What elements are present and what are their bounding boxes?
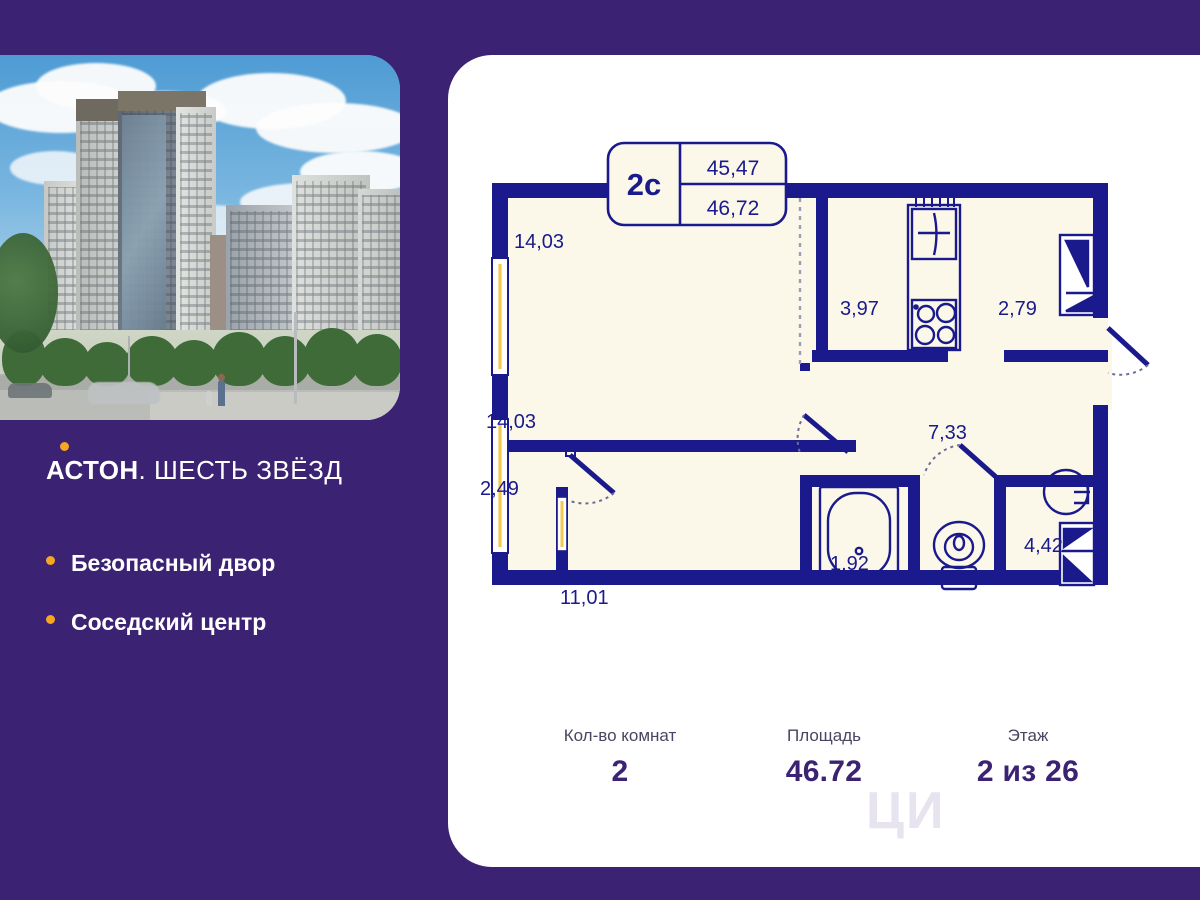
brand-logo: АСТОН . ШЕСТЬ ЗВЁЗД [46, 455, 342, 486]
street-light-pole [294, 312, 297, 404]
info-floor: Этаж 2 из 26 [968, 726, 1088, 789]
car [88, 382, 160, 404]
watermark: ЦИ [866, 781, 1066, 851]
badge-rooms-label: 2с [627, 167, 661, 202]
feature-item: Безопасный двор [46, 552, 416, 575]
window-left-upper [492, 258, 508, 375]
badge-area-with-balcony: 46,72 [707, 197, 760, 220]
feature-list: Безопасный двор Соседский центр [46, 552, 416, 670]
info-value: 46.72 [764, 755, 884, 789]
pedestrian-child [206, 391, 212, 406]
room-area-bathroom: 4,42 [1024, 535, 1063, 558]
info-value: 2 из 26 [968, 755, 1088, 789]
room-area-storage: 1,92 [830, 553, 869, 576]
floorplan-svg: 2с 45,47 46,72 [448, 55, 1200, 715]
floorplan-card: 2с 45,47 46,72 [448, 55, 1200, 867]
wardrobe-icon-lower [1060, 523, 1094, 585]
room-area-labels: 14,03 2,49 [514, 231, 564, 253]
interior-door-leaf [557, 497, 567, 551]
brand-name: АСТОН [46, 455, 139, 486]
car [8, 383, 52, 398]
floorplan-drawing[interactable]: 2с 45,47 46,72 [448, 55, 1200, 715]
badge-area-total: 45,47 [707, 157, 760, 180]
info-label: Площадь [764, 726, 884, 746]
building-render-image [0, 55, 400, 420]
info-value: 2 [560, 755, 680, 789]
bullet-dot-icon [46, 615, 55, 624]
area-badge: 2с 45,47 46,72 [608, 143, 786, 225]
logo-dot-icon [60, 442, 69, 451]
info-area: Площадь 46.72 [764, 726, 884, 789]
room-area-corridor: 7,33 [928, 422, 967, 445]
feature-label: Безопасный двор [71, 552, 275, 575]
info-label: Этаж [968, 726, 1088, 746]
apartment-info-bar: Кол-во комнат 2 Площадь 46.72 Этаж 2 из … [448, 726, 1200, 789]
kitchen-fixtures [908, 195, 960, 350]
room-area-hall: 2,49 [480, 478, 519, 501]
info-label: Кол-во комнат [560, 726, 680, 746]
tree-row [0, 314, 400, 386]
feature-item: Соседский центр [46, 611, 416, 634]
wardrobe-icon [1060, 235, 1094, 315]
info-rooms: Кол-во комнат 2 [560, 726, 680, 789]
sidewalk [150, 392, 400, 420]
room-area-living-room: 14,03 [486, 411, 536, 434]
brand-name-suffix: . ШЕСТЬ ЗВЁЗД [139, 455, 343, 486]
room-area-closet: 2,79 [998, 298, 1037, 321]
page-root: АСТОН . ШЕСТЬ ЗВЁЗД Безопасный двор Сосе… [0, 0, 1200, 900]
pedestrian-head [218, 374, 225, 381]
bullet-dot-icon [46, 556, 55, 565]
room-area-bedroom: 11,01 [560, 587, 609, 610]
building-glass-facade [122, 115, 166, 345]
left-panel: АСТОН . ШЕСТЬ ЗВЁЗД Безопасный двор Сосе… [0, 0, 440, 900]
pedestrian [218, 380, 225, 406]
room-area-kitchen: 3,97 [840, 298, 879, 321]
feature-label: Соседский центр [71, 611, 266, 634]
room-area-living: 14,03 [514, 231, 564, 253]
